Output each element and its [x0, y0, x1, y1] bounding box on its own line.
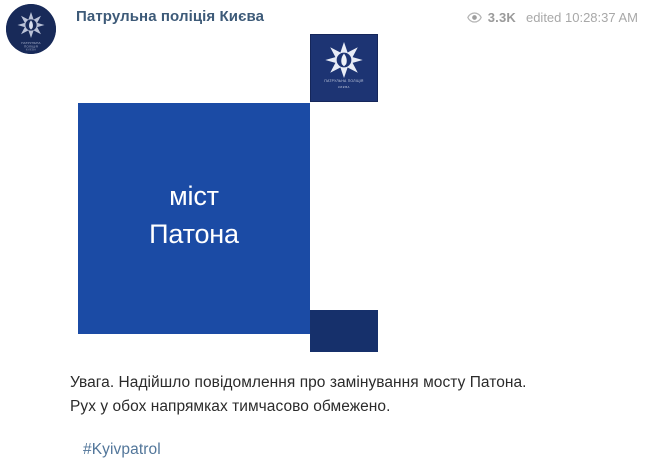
banner-blue-square: міст Патона	[78, 103, 310, 334]
eye-icon	[467, 10, 482, 25]
post-image[interactable]: ПАТРУЛЬНА ПОЛІЦІЯ КИЄВА міст Патона	[0, 30, 646, 360]
badge-tile: ПАТРУЛЬНА ПОЛІЦІЯ КИЄВА	[310, 34, 378, 102]
badge-caption-line1: ПАТРУЛЬНА ПОЛІЦІЯ	[324, 79, 363, 83]
view-count: 3.3K	[488, 10, 516, 25]
hashtag-link[interactable]: #Kyivpatrol	[83, 441, 161, 459]
badge-caption: ПАТРУЛЬНА ПОЛІЦІЯ КИЄВА	[311, 79, 377, 89]
edited-timestamp: edited 10:28:37 AM	[526, 10, 638, 25]
channel-title[interactable]: Патрульна поліція Києва	[76, 8, 264, 25]
banner-text-line2: Патона	[149, 216, 239, 253]
banner-text: міст Патона	[149, 178, 239, 253]
post-caption: Увага. Надійшло повідомлення про замінув…	[70, 371, 540, 418]
navy-accent-tile	[310, 310, 378, 352]
badge-caption-line2: КИЄВА	[311, 85, 377, 89]
banner-text-line1: міст	[149, 178, 239, 215]
post-meta: 3.3K edited 10:28:37 AM	[467, 10, 638, 25]
